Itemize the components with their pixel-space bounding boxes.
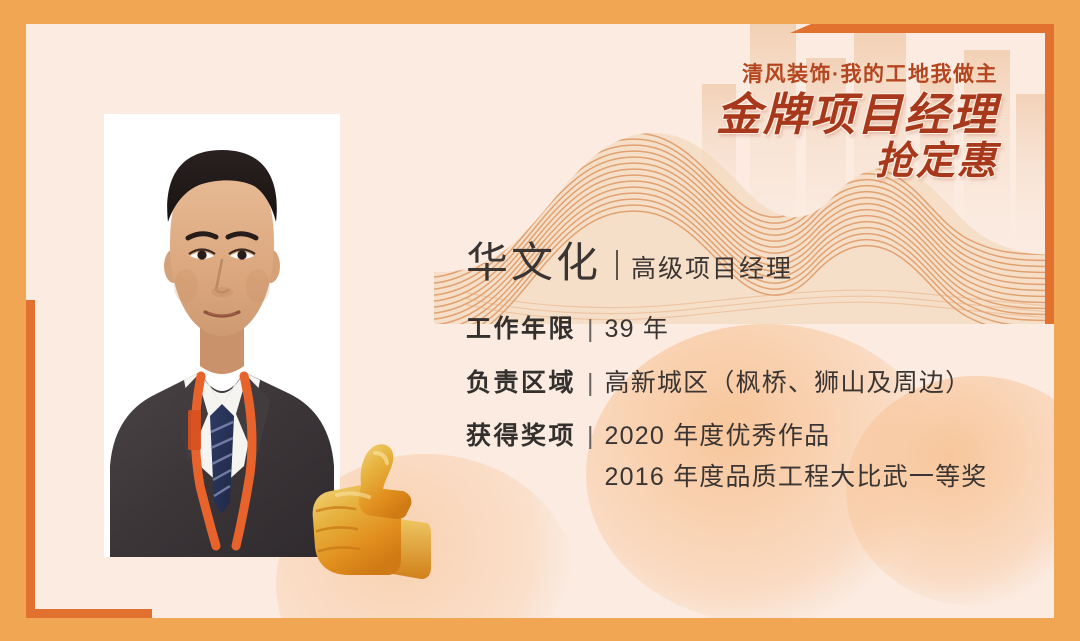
poster-card: 清风装饰·我的工地我做主 金牌项目经理 抢定惠 华文化 高级项目经理 工作年限 … — [26, 24, 1054, 618]
info-value: 2020 年度优秀作品 — [605, 421, 988, 452]
info-values: 39 年 — [605, 314, 670, 345]
info-separator: | — [587, 368, 594, 399]
name-row: 华文化 高级项目经理 — [466, 242, 987, 284]
info-value: 39 年 — [605, 314, 670, 345]
headline-secondary: 抢定惠 — [716, 141, 998, 182]
accent-diagonal-bar — [790, 24, 940, 33]
info-values: 2020 年度优秀作品 2016 年度品质工程大比武一等奖 — [605, 421, 988, 492]
info-value: 2016 年度品质工程大比武一等奖 — [605, 462, 988, 493]
info-value: 高新城区（枫桥、狮山及周边） — [605, 368, 972, 399]
thumbs-up-glyph — [309, 439, 431, 587]
info-row-awards: 获得奖项 | 2020 年度优秀作品 2016 年度品质工程大比武一等奖 — [466, 421, 987, 492]
info-separator: | — [587, 314, 594, 345]
info-row-region: 负责区域 | 高新城区（枫桥、狮山及周边） — [466, 368, 987, 399]
manager-portrait-photo — [104, 114, 340, 557]
brand-slogan: 清风装饰·我的工地我做主 — [716, 64, 998, 85]
manager-role: 高级项目经理 — [631, 257, 793, 282]
poster-header: 清风装饰·我的工地我做主 金牌项目经理 抢定惠 — [716, 64, 998, 181]
info-label: 负责区域 — [466, 368, 576, 399]
info-separator: | — [587, 421, 594, 452]
name-separator — [616, 250, 618, 280]
info-label: 获得奖项 — [466, 421, 576, 452]
info-label: 工作年限 — [466, 314, 576, 345]
info-values: 高新城区（枫桥、狮山及周边） — [605, 368, 972, 399]
manager-name: 华文化 — [466, 242, 601, 284]
manager-info: 华文化 高级项目经理 工作年限 | 39 年 负责区域 | 高新城区（枫桥、狮山… — [466, 242, 987, 515]
info-row-experience: 工作年限 | 39 年 — [466, 314, 987, 345]
portrait-illustration — [104, 114, 340, 557]
thumbs-up-icon — [309, 439, 431, 587]
headline-primary: 金牌项目经理 — [716, 92, 998, 139]
poster: 清风装饰·我的工地我做主 金牌项目经理 抢定惠 华文化 高级项目经理 工作年限 … — [0, 0, 1080, 641]
